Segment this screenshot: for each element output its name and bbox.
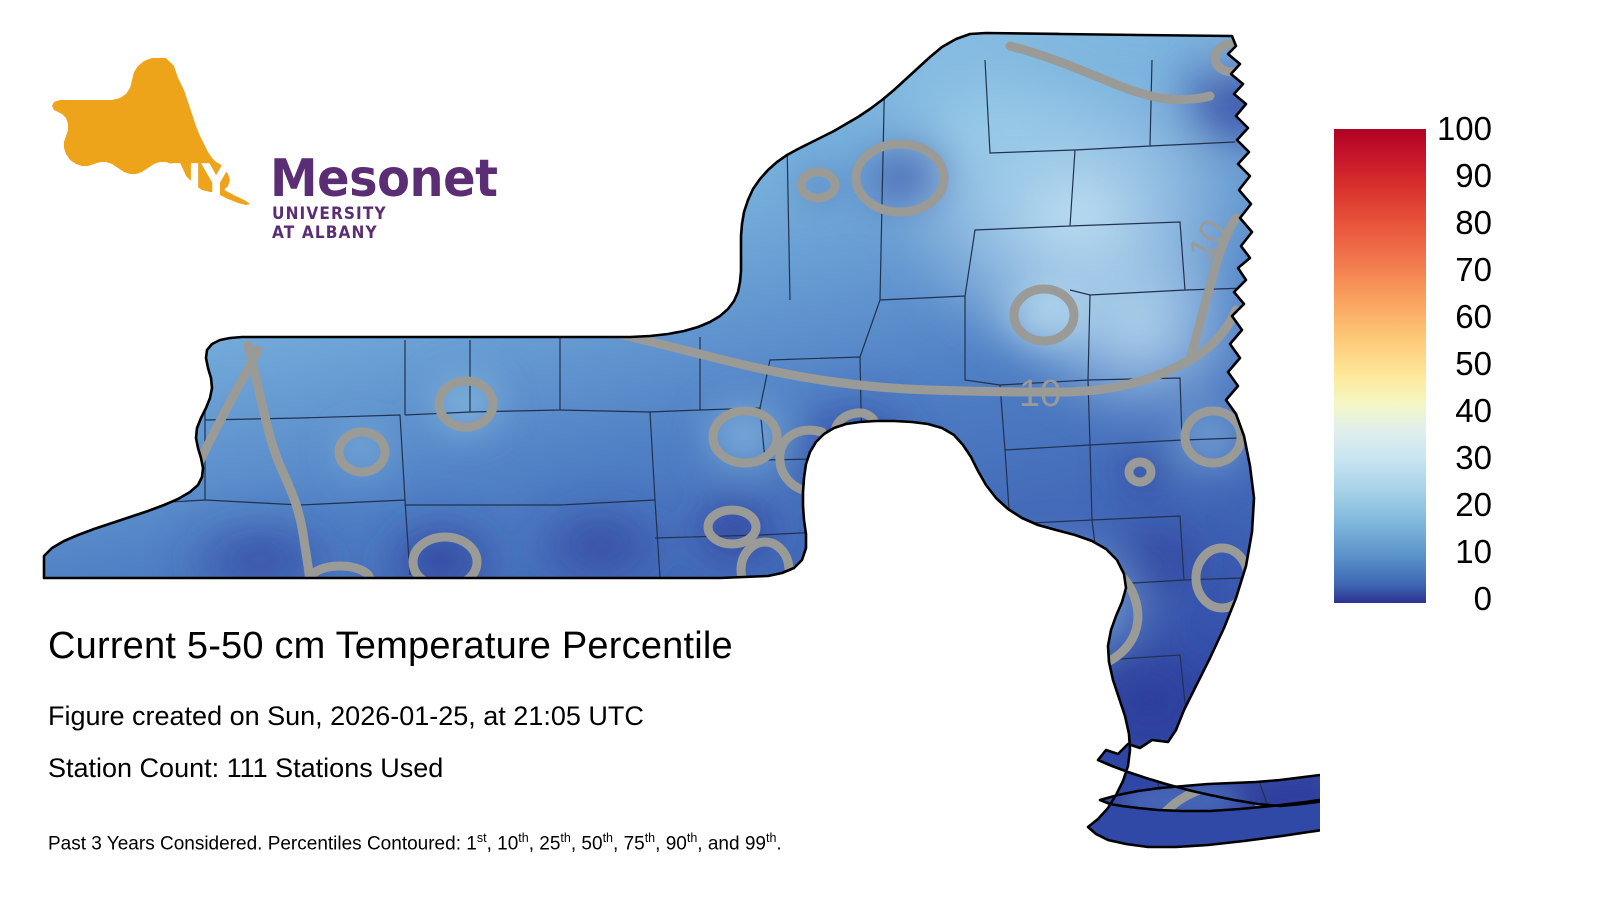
- figure-title: Current 5-50 cm Temperature Percentile: [48, 624, 733, 668]
- figure-created-timestamp: Figure created on Sun, 2026-01-25, at 21…: [48, 700, 644, 732]
- colorbar-tick-10: 10: [1455, 535, 1492, 568]
- colorbar-tick-0: 0: [1474, 582, 1492, 615]
- colorbar-tick-40: 40: [1455, 394, 1492, 427]
- colorbar: [1334, 129, 1426, 603]
- colorbar-gradient: [1334, 129, 1426, 603]
- logo-text-nys: NYS: [168, 154, 259, 208]
- colorbar-tick-60: 60: [1455, 300, 1492, 333]
- logo-text-mesonet: Mesonet: [270, 149, 498, 209]
- contour-label-10-central: 10: [1019, 373, 1061, 415]
- colorbar-tick-labels: 100 90 80 70 60 50 40 30 20 10 0: [1434, 0, 1514, 900]
- colorbar-tick-100: 100: [1437, 112, 1492, 145]
- percentile-footnote: Past 3 Years Considered. Percentiles Con…: [48, 826, 782, 856]
- colorbar-tick-90: 90: [1455, 159, 1492, 192]
- nys-mesonet-logo: NYS Mesonet UNIVERSITY AT ALBANY: [48, 56, 408, 206]
- logo-subtitle: UNIVERSITY AT ALBANY: [272, 204, 398, 242]
- station-count-label: Station Count: 111 Stations Used: [48, 752, 443, 784]
- colorbar-tick-20: 20: [1455, 488, 1492, 521]
- colorbar-tick-80: 80: [1455, 206, 1492, 239]
- colorbar-tick-70: 70: [1455, 253, 1492, 286]
- figure-canvas: 10 10 NYS Mesonet UNIVERSITY AT ALBANY 1…: [0, 0, 1600, 900]
- colorbar-tick-30: 30: [1455, 441, 1492, 474]
- colorbar-tick-50: 50: [1455, 347, 1492, 380]
